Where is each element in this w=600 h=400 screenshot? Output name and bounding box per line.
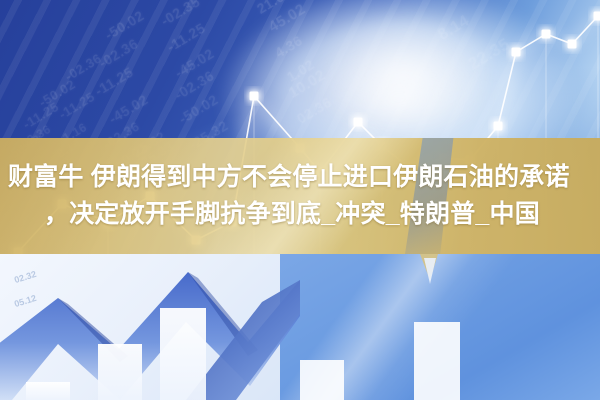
headline-block: 财富牛 伊朗得到中方不会停止进口伊朗石油的承诺 ，决定放开手脚抗争到底_冲突_特… [0, 138, 600, 254]
ground-background: 02.3205.12 [0, 254, 600, 400]
chart-data-point-marker [594, 12, 600, 21]
headline-line-2: ，决定放开手脚抗争到底_冲突_特朗普_中国 [0, 196, 600, 233]
chart-data-point-marker [542, 30, 551, 39]
bar-5 [414, 322, 460, 400]
headline-line-1: 财富牛 伊朗得到中方不会停止进口伊朗石油的承诺 [0, 159, 600, 196]
chart-data-point-marker [250, 92, 259, 101]
bar-2 [98, 344, 142, 400]
chart-data-point-marker [512, 48, 521, 57]
white-arrow-tip [424, 258, 436, 284]
bar-3 [160, 308, 206, 400]
chart-data-point-marker [354, 118, 363, 127]
bar-1 [26, 382, 70, 400]
chart-data-point-marker [494, 122, 503, 131]
news-thumbnail-image: -50.02-11.25-02.36-50.02-02.36-11.251.16… [0, 0, 600, 400]
chart-data-point-marker [568, 40, 577, 49]
zigzag-arrow-graphic [0, 254, 600, 400]
bar-4 [300, 360, 344, 400]
